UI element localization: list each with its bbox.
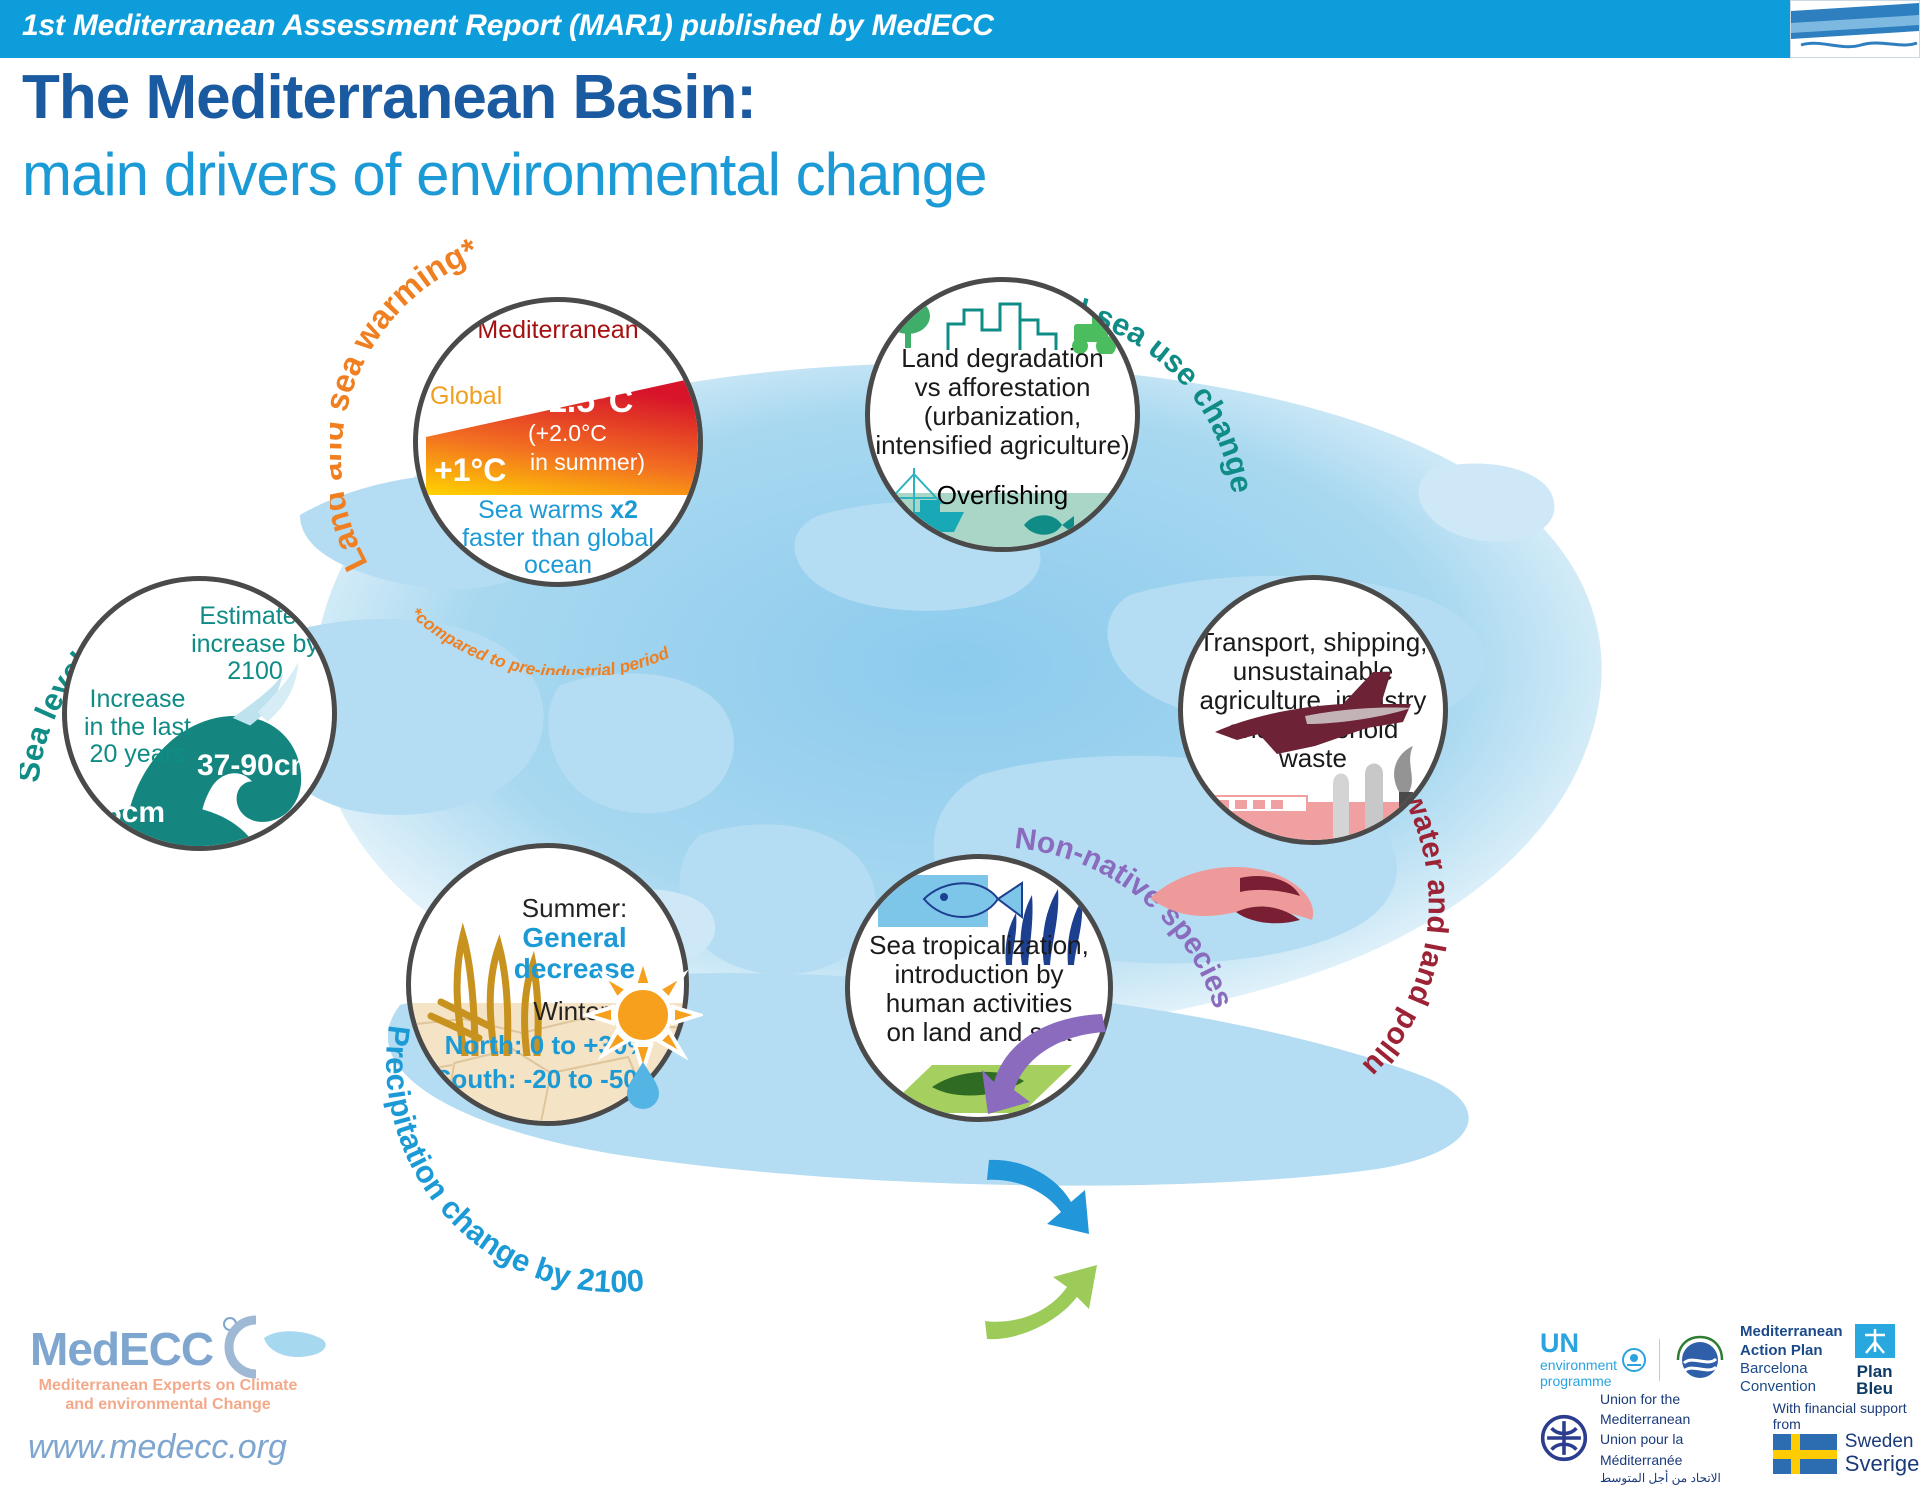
support-label: With financial support from — [1773, 1400, 1920, 1432]
banner-logo — [1790, 0, 1920, 58]
purple-arrow-icon — [980, 1010, 1110, 1120]
slr-inc-line3: 20 years — [90, 740, 186, 768]
nns-line2: introduction by — [894, 959, 1063, 989]
medecc-logo: MedECC Mediterranean Experts on Climate … — [12, 1318, 342, 1468]
ufm-emblem-icon — [1540, 1411, 1588, 1465]
prec-summer-line1: General — [522, 922, 626, 953]
logo-divider — [1659, 1339, 1660, 1381]
warming-mediterranean-label: Mediterranean — [418, 316, 698, 345]
un-environment-logo: UN environment programme — [1540, 1331, 1647, 1389]
warming-sea-line2: faster than global — [462, 524, 654, 552]
fish-icon — [1020, 510, 1076, 540]
medecc-subtitle: Mediterranean Experts on Climate and env… — [18, 1376, 318, 1414]
un-logo-line3: programme — [1540, 1373, 1617, 1389]
slr-est-line3: 2100 — [227, 657, 283, 685]
plan-bleu-line2: Bleu — [1855, 1380, 1895, 1397]
ufm-line2: Union pour la Méditerranée — [1600, 1429, 1755, 1470]
warming-global-value: +1°C — [434, 452, 506, 489]
warming-sea-line3: ocean — [524, 551, 592, 579]
sweden-flag-icon — [1773, 1434, 1837, 1474]
slr-inc-line2: in the last — [84, 713, 191, 741]
warming-sea-factor: x2 — [610, 496, 638, 524]
nns-line1: Sea tropicalization, — [869, 930, 1089, 960]
map-line1: Mediterranean — [1740, 1323, 1843, 1341]
un-logo-line2: environment — [1540, 1357, 1617, 1373]
map-line3: Barcelona — [1740, 1360, 1843, 1378]
warming-med-summer-label: in summer) — [530, 449, 645, 476]
landuse-description: Land degradation vs afforestation (urban… — [870, 344, 1135, 460]
green-arrow-icon — [985, 1255, 1105, 1345]
partner-logos-row1: UN environment programme Mediterranean A… — [1540, 1325, 1900, 1395]
slr-future-value: 37-90cm — [197, 749, 317, 783]
blue-arrow-icon — [985, 1150, 1095, 1240]
slr-est-line2: increase by — [191, 630, 319, 658]
landuse-line4: intensified agriculture) — [875, 430, 1129, 460]
slr-estimate-label: Estimated increase by 2100 — [175, 603, 335, 686]
map-line2: Action Plan — [1740, 1342, 1843, 1360]
ufm-text: Union for the Mediterranean Union pour l… — [1600, 1389, 1755, 1487]
map-line4: Convention — [1740, 1378, 1843, 1396]
node-warming[interactable]: Mediterranean Global +1.5°C (+2.0°C in s… — [413, 297, 703, 587]
medecc-wordmark: MedECC — [30, 1322, 213, 1376]
un-emblem-icon — [1621, 1347, 1647, 1373]
airplane-icon — [1185, 660, 1415, 780]
ufm-line1: Union for the Mediterranean — [1600, 1389, 1755, 1430]
sweden-support-logo: With financial support from Sweden Sveri… — [1773, 1400, 1920, 1475]
medecc-sub-line1: Mediterranean Experts on Climate — [39, 1377, 298, 1394]
pollution-line1: Transport, shipping, — [1199, 627, 1428, 657]
slr-past-label: Increase in the last 20 years — [75, 686, 200, 769]
node-sea-level-rise[interactable]: Estimated increase by 2100 Increase in t… — [62, 576, 337, 851]
landuse-line3: (urbanization, — [924, 401, 1082, 431]
page-title: The Mediterranean Basin: — [22, 62, 756, 133]
un-logo-text: UN — [1540, 1331, 1617, 1357]
sweden-en: Sweden — [1845, 1432, 1920, 1452]
precipitation-summer-label: Summer: — [471, 893, 678, 924]
page-subtitle: main drivers of environmental change — [22, 140, 987, 209]
sweden-sv: Sverige — [1845, 1452, 1920, 1475]
warming-med-value: +1.5°C — [528, 382, 633, 421]
water-drop-icon — [625, 1060, 661, 1110]
medecc-sub-line2: and environmental Change — [65, 1396, 270, 1413]
plan-bleu-line1: Plan — [1855, 1363, 1895, 1380]
medecc-url[interactable]: www.medecc.org — [28, 1428, 287, 1467]
sun-icon — [583, 955, 703, 1075]
slr-est-line1: Estimated — [199, 602, 310, 630]
mediterranean-action-plan-text: Mediterranean Action Plan Barcelona Conv… — [1740, 1323, 1843, 1396]
banner-text: 1st Mediterranean Assessment Report (MAR… — [22, 9, 994, 43]
fishing-boat-icon — [880, 464, 976, 550]
warming-sea-line1: Sea warms — [478, 496, 603, 524]
warming-med-summer-value: (+2.0°C — [528, 420, 607, 447]
medecc-basin-icon — [212, 1314, 342, 1384]
landuse-line1: Land degradation — [901, 343, 1103, 373]
slr-past-value: 6cm — [105, 796, 165, 830]
slr-inc-line1: Increase — [90, 685, 186, 713]
warming-sea-note: Sea warms x2 faster than global ocean — [418, 497, 698, 580]
barcelona-convention-emblem-icon — [1672, 1333, 1728, 1387]
pollution-plume-icon — [1140, 840, 1330, 950]
partner-logos-row2: Union for the Mediterranean Union pour l… — [1540, 1405, 1920, 1471]
plan-bleu-icon — [1855, 1324, 1895, 1358]
plan-bleu-logo: Plan Bleu — [1855, 1324, 1895, 1397]
ufm-line3: الاتحاد من أجل المتوسط — [1600, 1470, 1755, 1487]
landuse-line2: vs afforestation — [915, 372, 1091, 402]
top-banner: 1st Mediterranean Assessment Report (MAR… — [0, 0, 1790, 58]
node-land-use[interactable]: Land degradation vs afforestation (urban… — [865, 277, 1140, 552]
